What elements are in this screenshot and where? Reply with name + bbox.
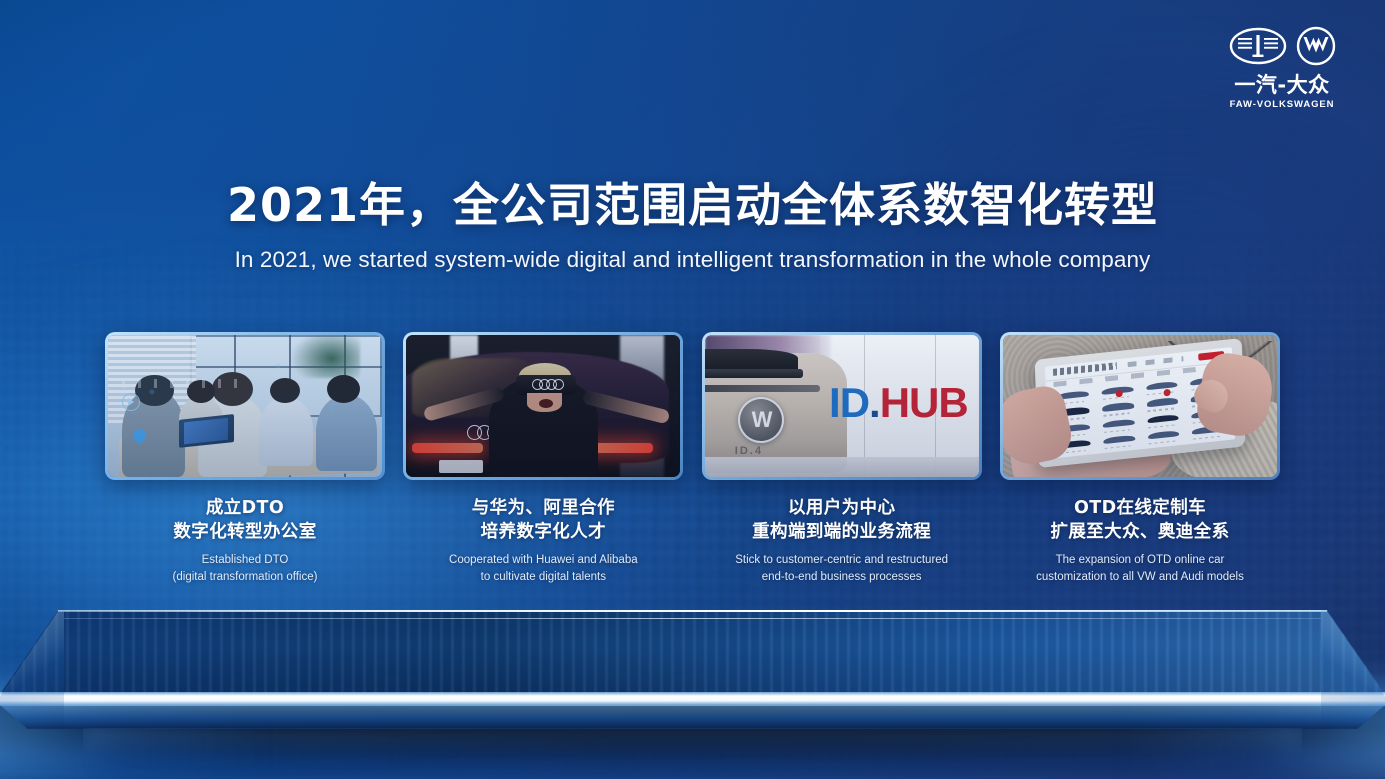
slide-headings: 2021年，全公司范围启动全体系数智化转型 In 2021, we starte… xyxy=(0,178,1385,273)
card-caption-chinese: 与华为、阿里合作 培养数字化人才 xyxy=(403,496,683,544)
card-caption-english-line2: customization to all VW and Audi models xyxy=(1000,569,1280,585)
highlight-card: W ID.4 ID.HUB 以用户为中心 重构端到端的业务流程 Stick to… xyxy=(702,332,982,585)
highlight-card: OTD在线定制车 扩展至大众、奥迪全系 The expansion of OTD… xyxy=(1000,332,1280,585)
card-caption-english: The expansion of OTD online car customiz… xyxy=(1000,552,1280,585)
id-hub-photo: W ID.4 ID.HUB xyxy=(705,335,979,477)
highlight-card-row: 成立DTO 数字化转型办公室 Established DTO (digital … xyxy=(105,332,1280,585)
logo-english-wordmark: FAW-VOLKSWAGEN xyxy=(1230,100,1335,110)
stage-platform xyxy=(0,588,1385,779)
card-caption-chinese: 以用户为中心 重构端到端的业务流程 xyxy=(702,496,982,544)
card-caption-english-line2: (digital transformation office) xyxy=(105,569,385,585)
card-caption-chinese-line2: 扩展至大众、奥迪全系 xyxy=(1000,520,1280,544)
card-caption: 与华为、阿里合作 培养数字化人才 Cooperated with Huawei … xyxy=(403,496,683,585)
card-image-frame xyxy=(1000,332,1280,480)
page-subtitle-english: In 2021, we started system-wide digital … xyxy=(0,246,1385,273)
card-caption-chinese-line1: 与华为、阿里合作 xyxy=(403,496,683,520)
card-caption-english-line1: Cooperated with Huawei and Alibaba xyxy=(403,552,683,568)
card-caption-english-line1: The expansion of OTD online car xyxy=(1000,552,1280,568)
card-caption-english-line2: to cultivate digital talents xyxy=(403,569,683,585)
card-image-frame xyxy=(403,332,683,480)
card-image-frame xyxy=(105,332,385,480)
stage-inner-edge-line xyxy=(64,618,1322,619)
highlight-card: 成立DTO 数字化转型办公室 Established DTO (digital … xyxy=(105,332,385,585)
stage-front-face xyxy=(0,705,1385,729)
card-caption: 成立DTO 数字化转型办公室 Established DTO (digital … xyxy=(105,496,385,585)
stage-floor-reflection xyxy=(83,728,1302,779)
card-caption-english-line1: Established DTO xyxy=(105,552,385,568)
stage-corner-right xyxy=(1321,610,1385,730)
card-caption-english: Cooperated with Huawei and Alibaba to cu… xyxy=(403,552,683,585)
audi-vr-photo xyxy=(406,335,680,477)
card-caption-english: Stick to customer-centric and restructur… xyxy=(702,552,982,585)
card-caption-chinese: OTD在线定制车 扩展至大众、奥迪全系 xyxy=(1000,496,1280,544)
card-caption-chinese-line2: 培养数字化人才 xyxy=(403,520,683,544)
card-caption-chinese-line1: OTD在线定制车 xyxy=(1000,496,1280,520)
card-caption-chinese: 成立DTO 数字化转型办公室 xyxy=(105,496,385,544)
card-caption-chinese-line2: 数字化转型办公室 xyxy=(105,520,385,544)
card-caption-chinese-line1: 成立DTO xyxy=(105,496,385,520)
stage-corner-left xyxy=(0,610,64,730)
card-caption-chinese-line1: 以用户为中心 xyxy=(702,496,982,520)
card-caption: 以用户为中心 重构端到端的业务流程 Stick to customer-cent… xyxy=(702,496,982,585)
card-caption-english-line2: end-to-end business processes xyxy=(702,569,982,585)
stage-top-reflection xyxy=(0,610,1385,694)
card-image-frame: W ID.4 ID.HUB xyxy=(702,332,982,480)
vw-roundel-icon xyxy=(1296,26,1336,71)
logo-emblems xyxy=(1229,26,1336,71)
card-caption-chinese-line2: 重构端到端的业务流程 xyxy=(702,520,982,544)
presentation-slide: 一汽-大众 FAW-VOLKSWAGEN 2021年，全公司范围启动全体系数智化… xyxy=(0,0,1385,779)
tablet-configurator-photo xyxy=(1003,335,1277,477)
office-meeting-photo xyxy=(108,335,382,477)
stage-neon-edge-light xyxy=(0,692,1385,706)
faw-volkswagen-logo: 一汽-大众 FAW-VOLKSWAGEN xyxy=(1217,26,1347,110)
card-caption-english-line1: Stick to customer-centric and restructur… xyxy=(702,552,982,568)
page-title-chinese: 2021年，全公司范围启动全体系数智化转型 xyxy=(0,178,1385,232)
card-caption: OTD在线定制车 扩展至大众、奥迪全系 The expansion of OTD… xyxy=(1000,496,1280,585)
highlight-card: 与华为、阿里合作 培养数字化人才 Cooperated with Huawei … xyxy=(403,332,683,585)
faw-emblem-icon xyxy=(1229,27,1287,70)
stage-top-edge-line xyxy=(58,610,1327,612)
card-caption-english: Established DTO (digital transformation … xyxy=(105,552,385,585)
logo-chinese-wordmark: 一汽-大众 xyxy=(1234,75,1329,96)
